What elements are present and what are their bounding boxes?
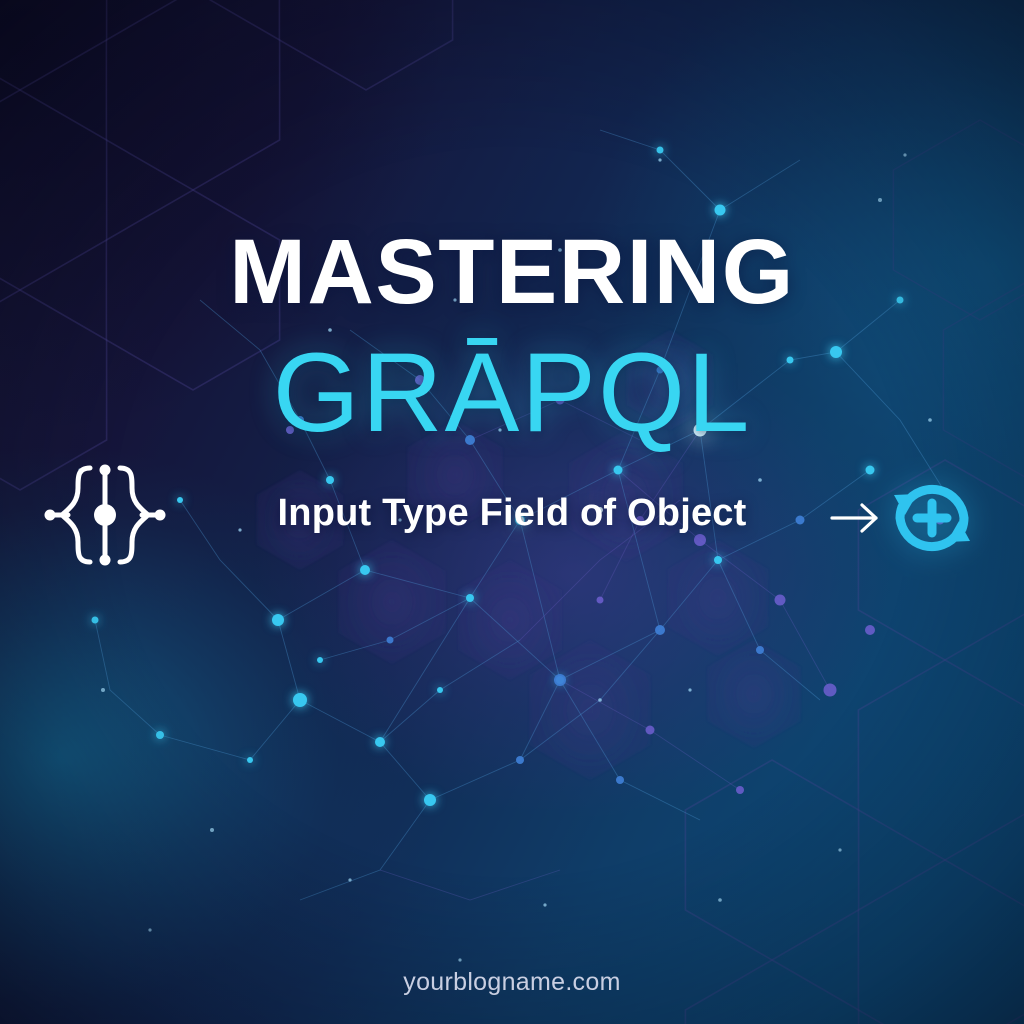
- footer-website: yourblogname.com: [0, 968, 1024, 997]
- poster-canvas: MASTERING GRĀPQL Input Type Field of Obj…: [0, 0, 1024, 1024]
- page-title: MASTERING: [0, 226, 1024, 318]
- page-title-accent: GRĀPQL: [0, 337, 1024, 449]
- page-subtitle: Input Type Field of Object: [0, 494, 1024, 532]
